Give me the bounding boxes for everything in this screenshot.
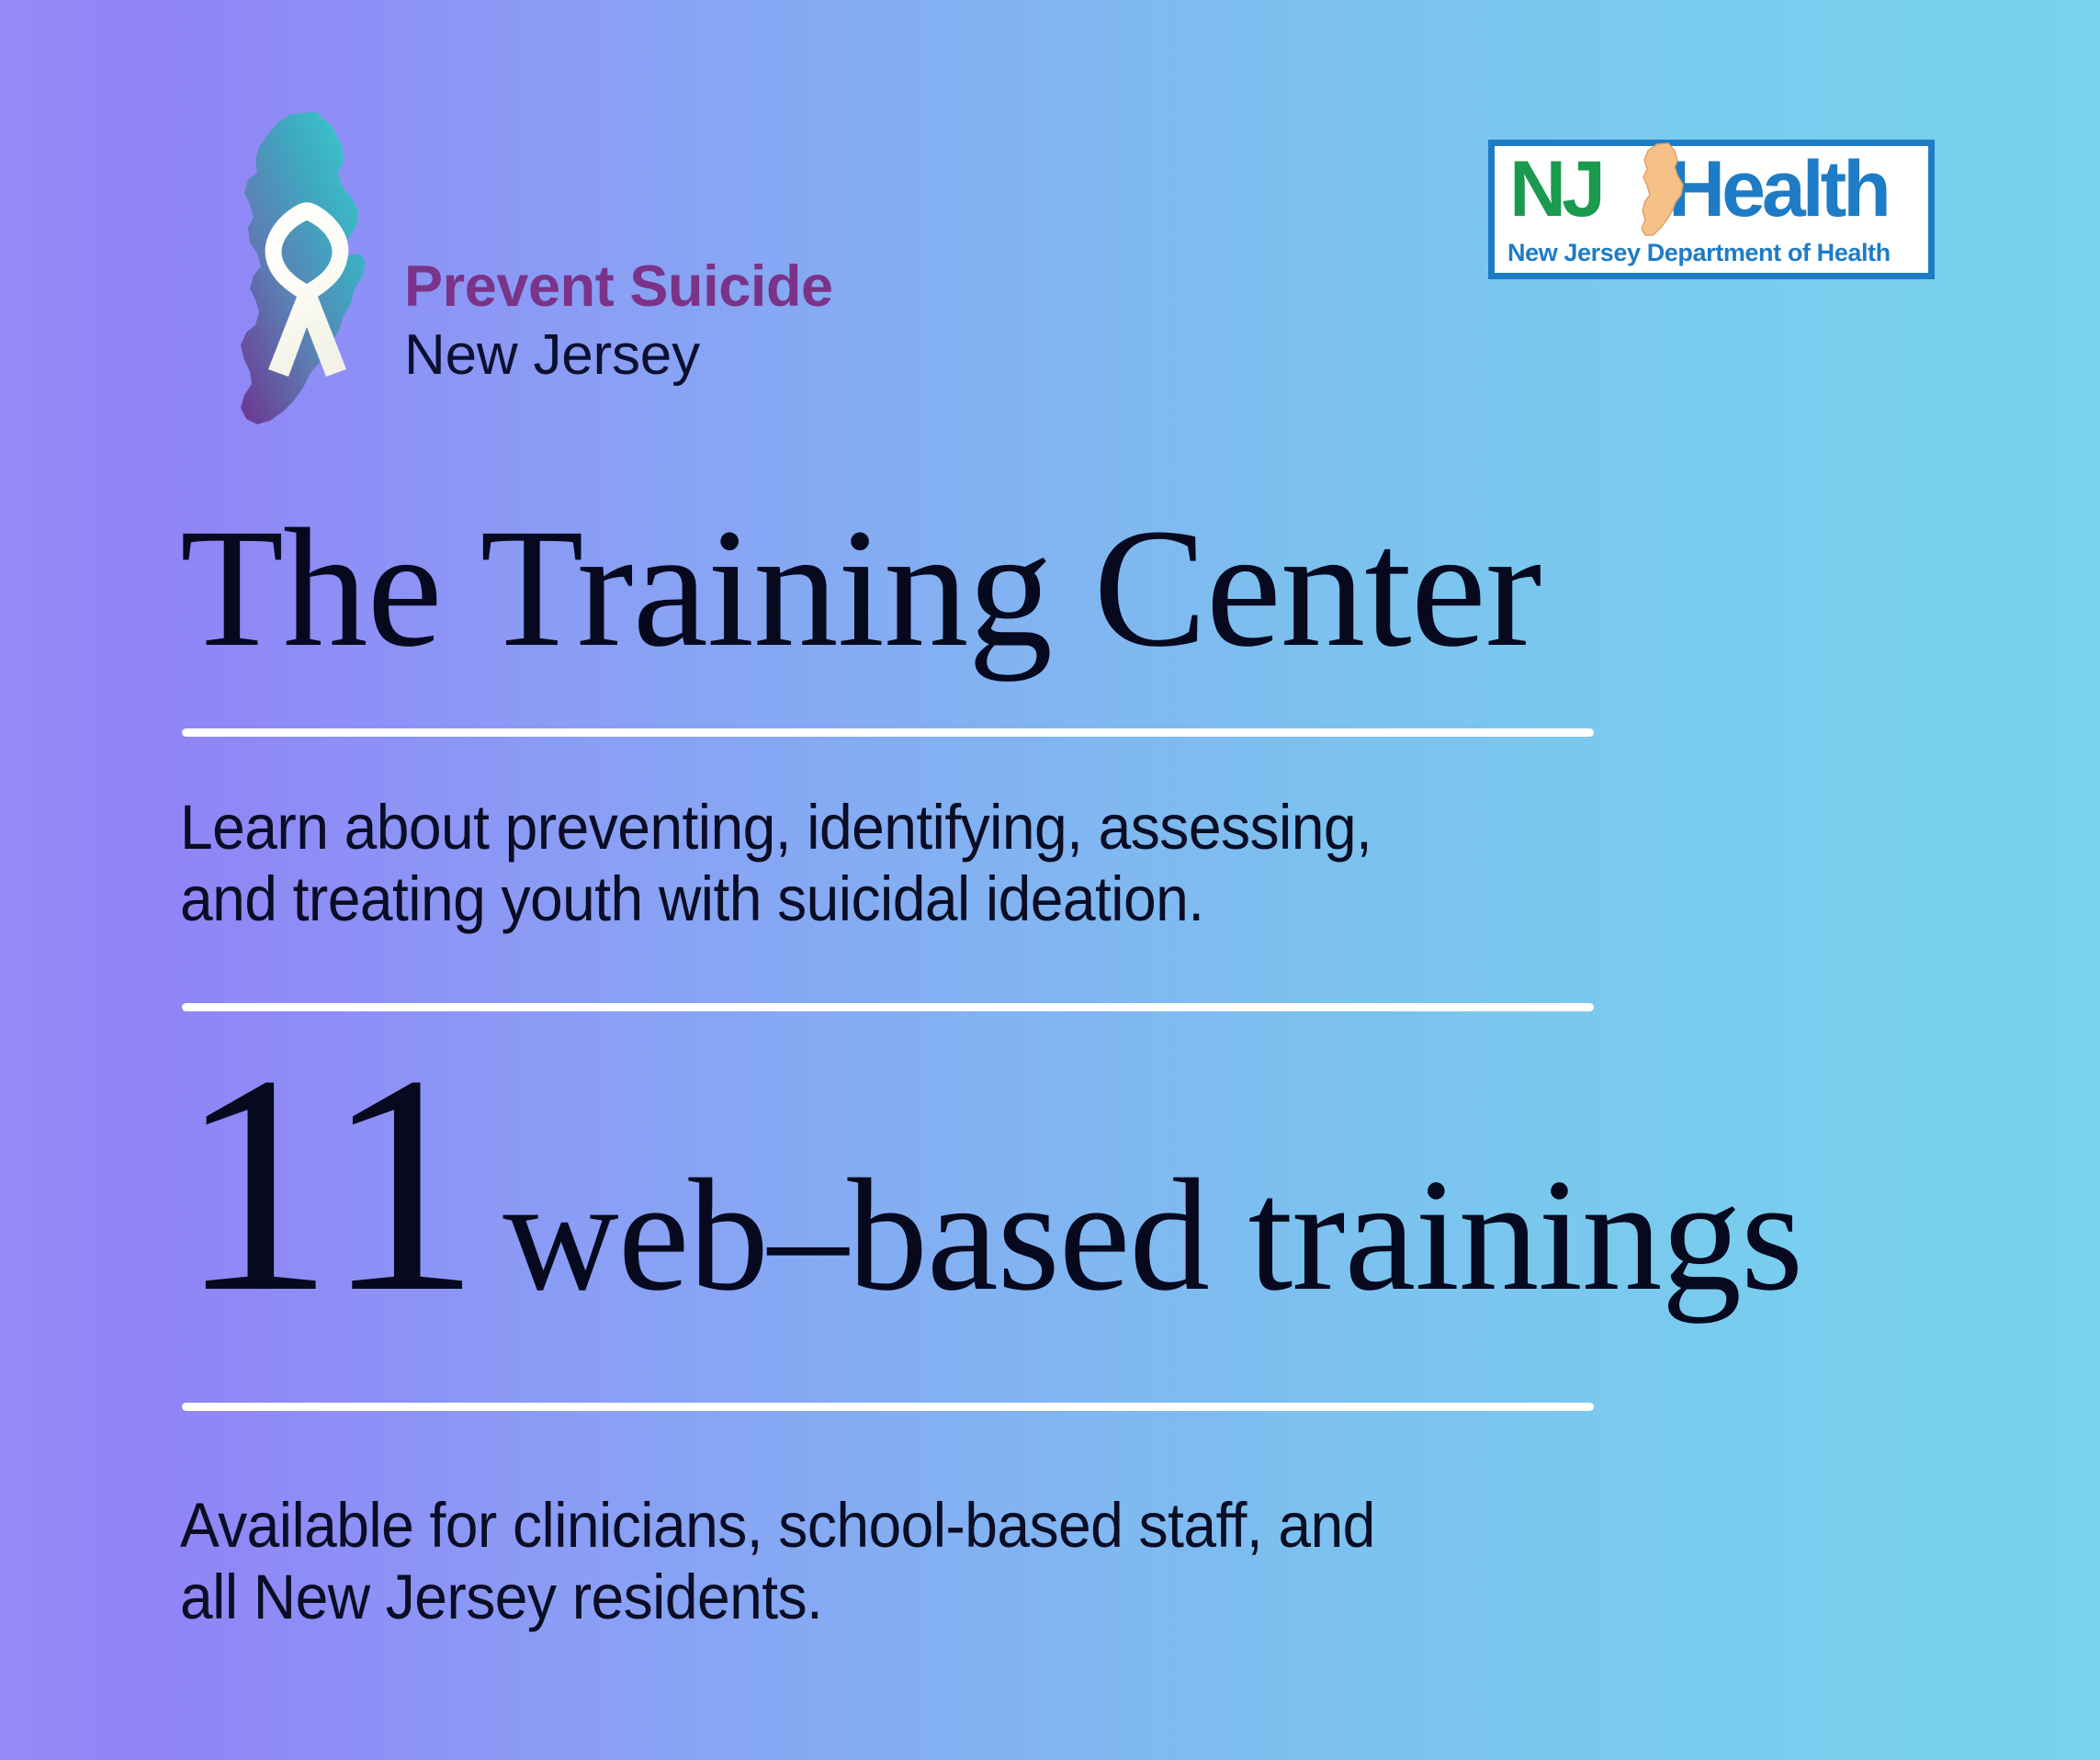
description-text: Learn about preventing, identifying, ass… <box>180 792 1372 935</box>
description-line-1: Learn about preventing, identifying, ass… <box>180 792 1372 863</box>
page-title: The Training Center <box>180 503 1541 673</box>
brand-line-new-jersey: New Jersey <box>404 327 833 384</box>
audience-line-2: all New Jersey residents. <box>180 1562 1375 1633</box>
audience-line-1: Available for clinicians, school-based s… <box>180 1490 1375 1562</box>
promo-poster: Prevent Suicide New Jersey NJ Health New… <box>0 0 2100 1760</box>
stat-label: web–based trainings <box>502 1155 1802 1315</box>
nj-health-subtitle: New Jersey Department of Health <box>1507 239 1891 267</box>
nj-state-outline-icon <box>1631 142 1688 238</box>
brand-lockup: Prevent Suicide New Jersey <box>204 108 833 432</box>
nj-health-health-text: Health <box>1668 150 1888 229</box>
description-line-2: and treating youth with suicidal ideatio… <box>180 863 1372 935</box>
stat-number: 11 <box>178 1056 482 1313</box>
nj-health-logo: NJ Health New Jersey Department of Healt… <box>1488 140 1935 279</box>
brand-wordmark: Prevent Suicide New Jersey <box>404 258 833 432</box>
nj-health-wordmark: NJ Health <box>1507 153 1917 234</box>
nj-health-nj-text: NJ <box>1509 150 1601 229</box>
divider-bottom <box>182 1403 1594 1411</box>
divider-top <box>182 728 1594 737</box>
audience-text: Available for clinicians, school-based s… <box>180 1490 1375 1633</box>
nj-state-ribbon-icon <box>204 108 388 432</box>
brand-line-prevent-suicide: Prevent Suicide <box>404 258 833 316</box>
trainings-stat: 11 web–based trainings <box>178 1056 1802 1315</box>
